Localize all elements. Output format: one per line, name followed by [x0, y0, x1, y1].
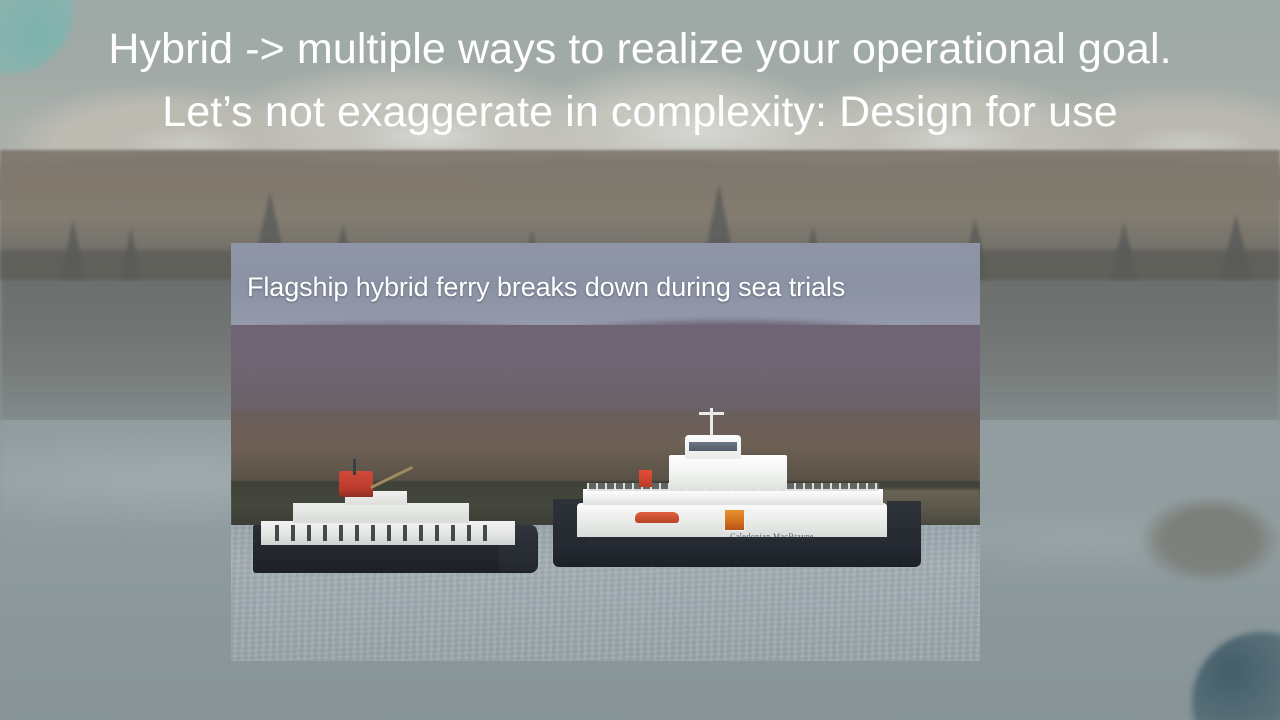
ferry-hybrid-bridge-windows: [689, 442, 737, 451]
news-photo: Caledonian MacBrayne Flagship hybrid fer…: [231, 243, 980, 661]
presentation-slide: Hybrid -> multiple ways to realize your …: [0, 0, 1280, 720]
ferry-hybrid-vent-left: [639, 470, 652, 487]
slide-title: Hybrid -> multiple ways to realize your …: [0, 18, 1280, 144]
title-line-1: Hybrid -> multiple ways to realize your …: [0, 18, 1280, 81]
ferry-conventional-funnel: [339, 471, 373, 497]
ferry-hybrid-mast-crossarm: [699, 412, 724, 415]
ferry-conventional: [253, 467, 538, 585]
ferry-hybrid-deck: [583, 489, 883, 505]
ferry-hybrid-bow-ramp: [887, 501, 921, 543]
ferry-conventional-superstructure: [293, 503, 469, 523]
caledonian-macbrayne-logo: [724, 509, 745, 531]
ferry-hybrid-name: Caledonian MacBrayne: [687, 532, 857, 541]
ferry-conventional-railing: [275, 525, 490, 541]
ferry-conventional-mast: [353, 459, 356, 475]
news-photo-caption: Flagship hybrid ferry breaks down during…: [247, 271, 967, 303]
ferry-hybrid-deckhouse: [669, 455, 787, 489]
ferry-conventional-crane: [370, 466, 413, 489]
ferry-hybrid: Caledonian MacBrayne: [553, 393, 921, 583]
ferry-hybrid-lifeboat: [635, 512, 679, 523]
title-line-2: Let’s not exaggerate in complexity: Desi…: [0, 81, 1280, 144]
